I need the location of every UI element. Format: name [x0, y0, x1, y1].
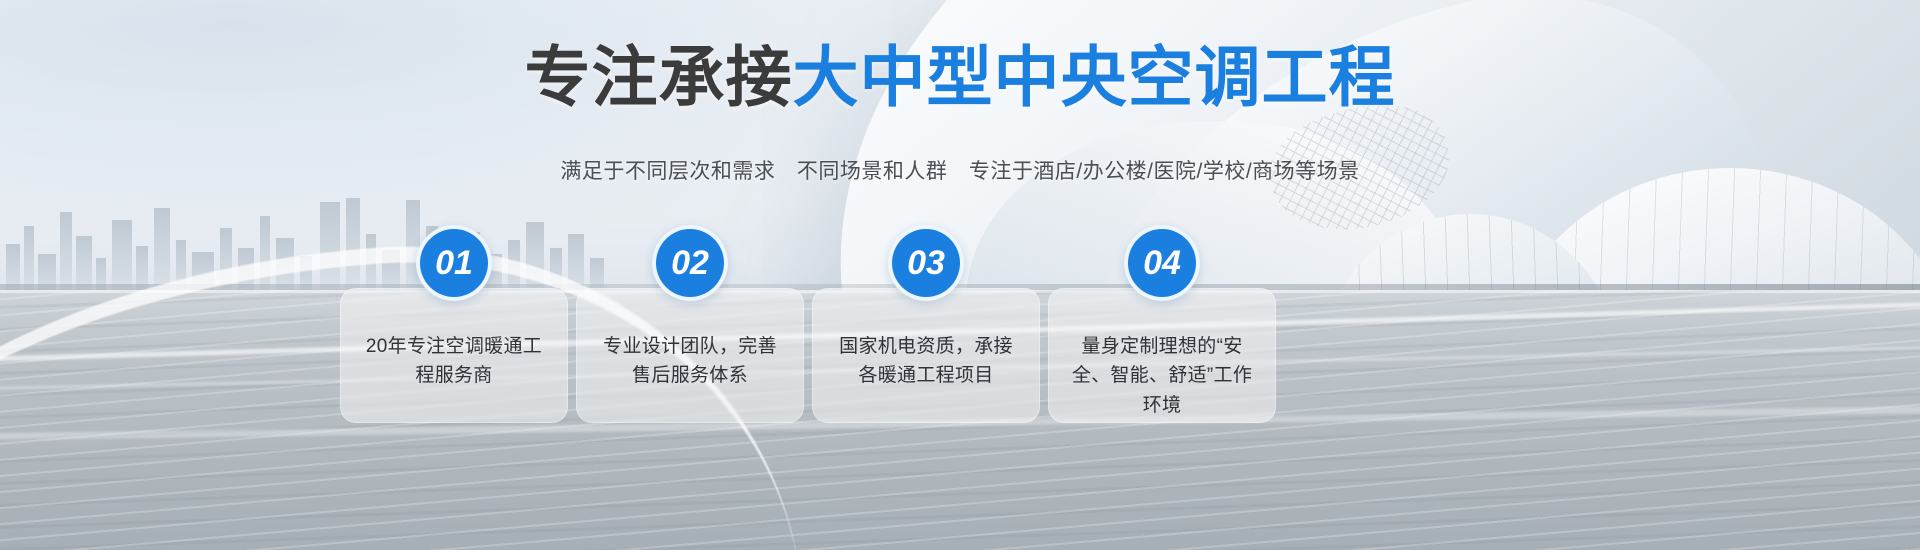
- feature-card-number-badge: 02: [652, 225, 728, 301]
- feature-card-number-badge: 01: [416, 225, 492, 301]
- feature-card-number-badge: 04: [1124, 225, 1200, 301]
- feature-card-number-badge: 03: [888, 225, 964, 301]
- headline-accent-text: 大中型中央空调工程: [793, 40, 1396, 114]
- feature-card-text: 国家机电资质，承接各暖通工程项目: [830, 332, 1022, 391]
- feature-card[interactable]: 01 20年专注空调暖通工程服务商: [340, 288, 568, 423]
- feature-card[interactable]: 03 国家机电资质，承接各暖通工程项目: [812, 288, 1040, 423]
- feature-card[interactable]: 02 专业设计团队，完善售后服务体系: [576, 288, 804, 423]
- banner-subheadline: 满足于不同层次和需求 不同场景和人群 专注于酒店/办公楼/医院/学校/商场等场景: [0, 155, 1920, 185]
- headline-dark-text: 专注承接: [525, 40, 793, 114]
- banner-headline: 专注承接大中型中央空调工程: [0, 44, 1920, 110]
- feature-card-text: 20年专注空调暖通工程服务商: [358, 332, 550, 391]
- feature-card-text: 量身定制理想的“安全、智能、舒适”工作环境: [1066, 332, 1258, 420]
- hero-banner: 专注承接大中型中央空调工程 满足于不同层次和需求 不同场景和人群 专注于酒店/办…: [0, 0, 1920, 550]
- feature-card[interactable]: 04 量身定制理想的“安全、智能、舒适”工作环境: [1048, 288, 1276, 423]
- feature-card-text: 专业设计团队，完善售后服务体系: [594, 332, 786, 391]
- feature-card-list: 01 20年专注空调暖通工程服务商 02 专业设计团队，完善售后服务体系 03 …: [340, 288, 1288, 423]
